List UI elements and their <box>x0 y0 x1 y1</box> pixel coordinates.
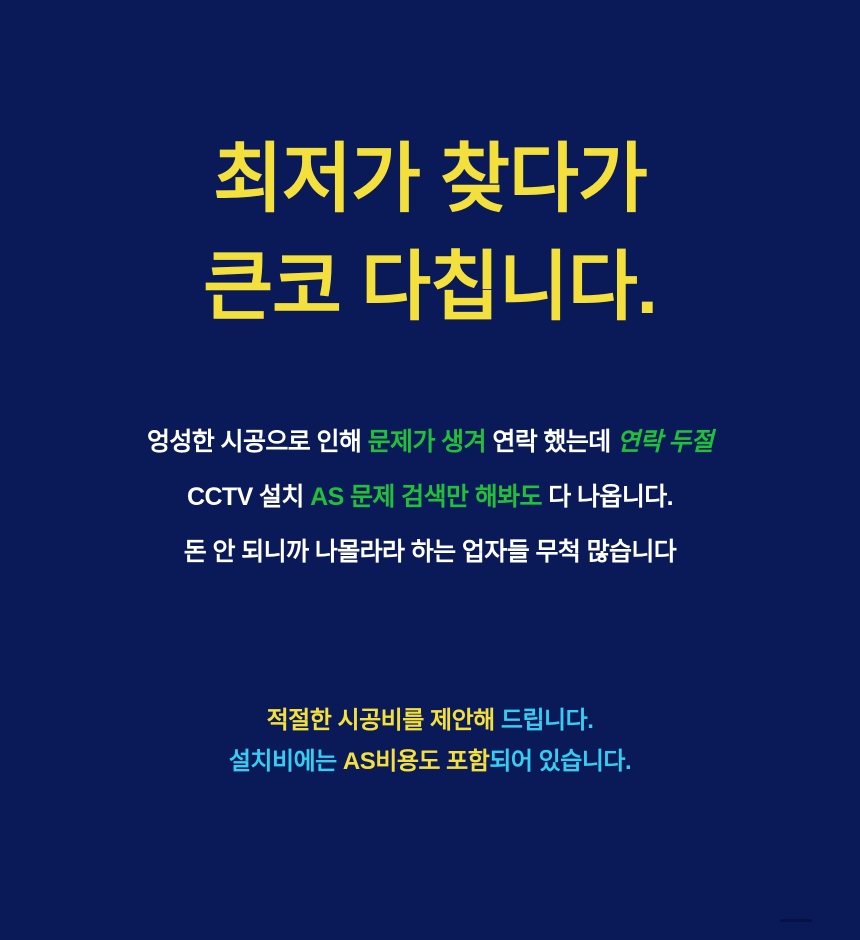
body-line-1: 엉성한 시공으로 인해 문제가 생겨 연락 했는데 연락 두절 <box>0 415 860 470</box>
headline-line-1: 최저가 찾다가 <box>0 126 860 234</box>
body-copy: 엉성한 시공으로 인해 문제가 생겨 연락 했는데 연락 두절 CCTV 설치 … <box>0 415 860 580</box>
body-line-2-highlight-1: AS 문제 검색만 해봐도 <box>310 483 542 511</box>
closing-line-2-segment-1: 설치비에는 <box>229 748 343 775</box>
closing-line-2-segment-2: 되어 있습니다. <box>489 748 631 775</box>
promo-banner: 최저가 찾다가 큰코 다칩니다. 엉성한 시공으로 인해 문제가 생겨 연락 했… <box>0 0 860 940</box>
closing-line-1-segment: 드립니다. <box>495 707 594 734</box>
closing-line-1-highlight: 적절한 시공비를 제안해 <box>267 707 495 734</box>
headline: 최저가 찾다가 큰코 다칩니다. <box>0 126 860 342</box>
body-line-2-segment-1: CCTV 설치 <box>187 483 310 511</box>
headline-line-2: 큰코 다칩니다. <box>0 234 860 342</box>
body-line-1-highlight-1: 문제가 생겨 <box>368 428 486 456</box>
edge-artifact-mark <box>780 919 812 922</box>
closing-line-1: 적절한 시공비를 제안해 드립니다. <box>0 700 860 741</box>
body-line-2-segment-2: 다 나옵니다. <box>542 483 673 511</box>
body-line-1-highlight-2: 연락 두절 <box>617 428 713 456</box>
body-line-1-segment-2: 연락 했는데 <box>486 428 617 456</box>
closing-statement: 적절한 시공비를 제안해 드립니다. 설치비에는 AS비용도 포함되어 있습니다… <box>0 700 860 782</box>
body-line-2: CCTV 설치 AS 문제 검색만 해봐도 다 나옵니다. <box>0 470 860 525</box>
body-line-3: 돈 안 되니까 나몰라라 하는 업자들 무척 많습니다 <box>0 525 860 580</box>
closing-line-2: 설치비에는 AS비용도 포함되어 있습니다. <box>0 741 860 782</box>
closing-line-2-highlight: AS비용도 포함 <box>343 748 489 775</box>
body-line-1-segment-1: 엉성한 시공으로 인해 <box>147 428 368 456</box>
body-line-3-segment-1: 돈 안 되니까 나몰라라 하는 업자들 무척 많습니다 <box>184 538 676 566</box>
